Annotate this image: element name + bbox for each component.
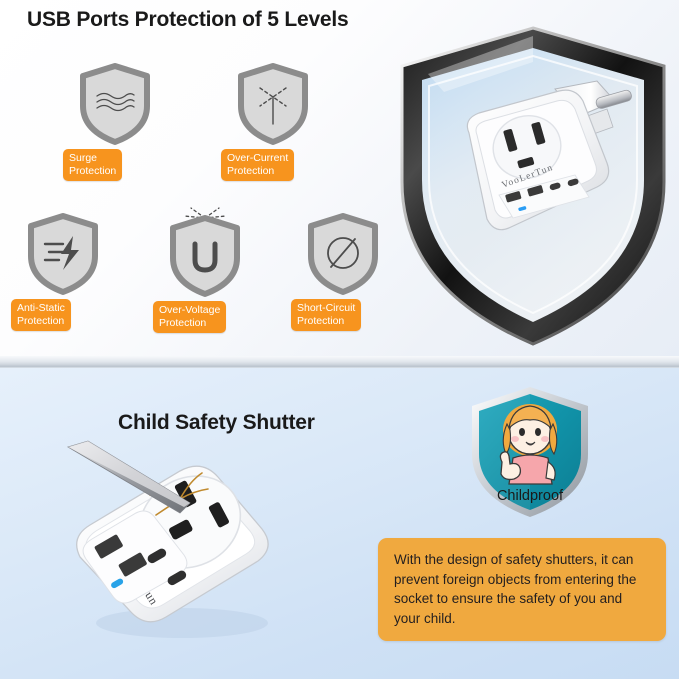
- feature-anti-static-protection: Anti-Static Protection: [3, 212, 123, 331]
- feature-surge-protection: Surge Protection: [55, 62, 175, 181]
- feature-over-voltage-protection: Over-Voltage Protection: [145, 206, 265, 333]
- feature-label-line1: Over-Voltage: [159, 304, 220, 317]
- anti-static-bolt-icon: [25, 212, 101, 296]
- feature-label: Over-Voltage Protection: [153, 301, 226, 333]
- bottom-section-title: Child Safety Shutter: [118, 411, 315, 435]
- over-current-burst-icon: [235, 62, 311, 146]
- bottom-panel: Child Safety Shutter: [0, 368, 679, 679]
- childproof-badge-label: Childproof: [497, 488, 564, 504]
- feature-label-line2: Protection: [17, 315, 65, 328]
- feature-label: Anti-Static Protection: [11, 299, 71, 331]
- feature-label-line2: Protection: [227, 165, 288, 178]
- infographic-page: USB Ports Protection of 5 Levels Surge P…: [0, 0, 679, 679]
- feature-label: Over-Current Protection: [221, 149, 294, 181]
- feature-over-current-protection: Over-Current Protection: [213, 62, 333, 181]
- safety-description-text: With the design of safety shutters, it c…: [394, 550, 652, 628]
- feature-label: Short-Circuit Protection: [291, 299, 361, 331]
- surge-wave-icon: [77, 62, 153, 146]
- feature-label-line2: Protection: [297, 315, 355, 328]
- feature-label-line1: Over-Current: [227, 152, 288, 165]
- feature-label-line2: Protection: [69, 165, 116, 178]
- hero-product-adapter: VooLerTun: [447, 75, 632, 265]
- short-circuit-slash-icon: [305, 212, 381, 296]
- feature-short-circuit-protection: Short-Circuit Protection: [283, 212, 403, 331]
- feature-label-line1: Surge: [69, 152, 116, 165]
- top-section-title: USB Ports Protection of 5 Levels: [27, 8, 349, 32]
- feature-label-line2: Protection: [159, 317, 220, 330]
- over-voltage-u-icon: [167, 206, 243, 298]
- childproof-badge: Childproof: [466, 384, 594, 520]
- feature-label-line1: Short-Circuit: [297, 302, 355, 315]
- feature-label: Surge Protection: [63, 149, 122, 181]
- feature-label-line1: Anti-Static: [17, 302, 65, 315]
- section-divider: [0, 356, 679, 368]
- child-safety-product-photo: VooLerTun: [62, 437, 292, 652]
- safety-description-box: With the design of safety shutters, it c…: [378, 538, 666, 641]
- top-panel: USB Ports Protection of 5 Levels Surge P…: [0, 0, 679, 356]
